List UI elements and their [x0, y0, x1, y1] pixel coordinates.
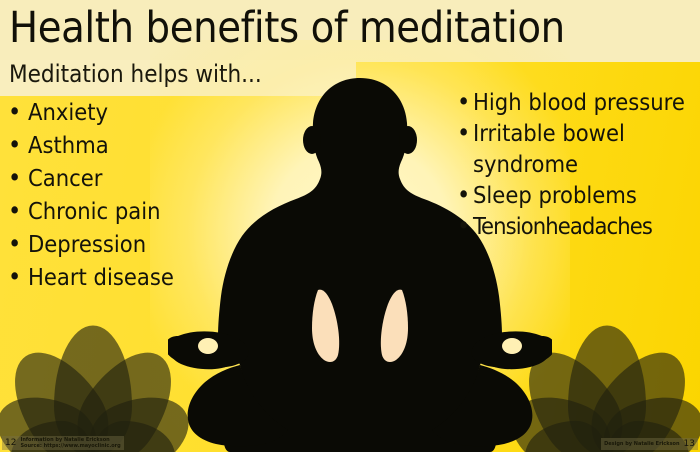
slide-canvas: Health benefits of meditation Meditation… — [0, 0, 700, 452]
list-item: Anxiety — [6, 96, 256, 129]
credit-source-line: Source: https://www.mayoclinic.org — [20, 443, 120, 449]
list-item: Depression — [6, 228, 256, 261]
list-item: Cancer — [6, 162, 256, 195]
list-item: Heart disease — [6, 261, 256, 294]
page-number-left: 12 — [5, 438, 16, 448]
list-item: Tensionheadaches — [455, 211, 699, 242]
list-item: Sleep problems — [455, 180, 699, 211]
footer-credit-right: Design by Natalie Erickson 13 — [601, 438, 698, 450]
credit-design-line: Design by Natalie Erickson — [604, 441, 679, 447]
list-item: Irritable bowel syndrome — [455, 118, 699, 180]
footer-credit-left: 12 Information by Natalie Erickson Sourc… — [2, 436, 124, 450]
page-title: Health benefits of meditation — [9, 3, 565, 53]
list-item: Asthma — [6, 129, 256, 162]
page-subtitle: Meditation helps with... — [9, 59, 262, 89]
lotus-petal — [568, 325, 646, 452]
benefits-list-right: High blood pressure Irritable bowel synd… — [455, 87, 699, 242]
lotus-petal — [54, 325, 132, 452]
credit-text-block: Design by Natalie Erickson — [604, 441, 679, 447]
credit-text-block: Information by Natalie Erickson Source: … — [20, 437, 120, 449]
list-item: High blood pressure — [455, 87, 699, 118]
list-item: Chronic pain — [6, 195, 256, 228]
benefits-list-left: Anxiety Asthma Cancer Chronic pain Depre… — [6, 96, 256, 294]
page-number-right: 13 — [684, 439, 695, 449]
